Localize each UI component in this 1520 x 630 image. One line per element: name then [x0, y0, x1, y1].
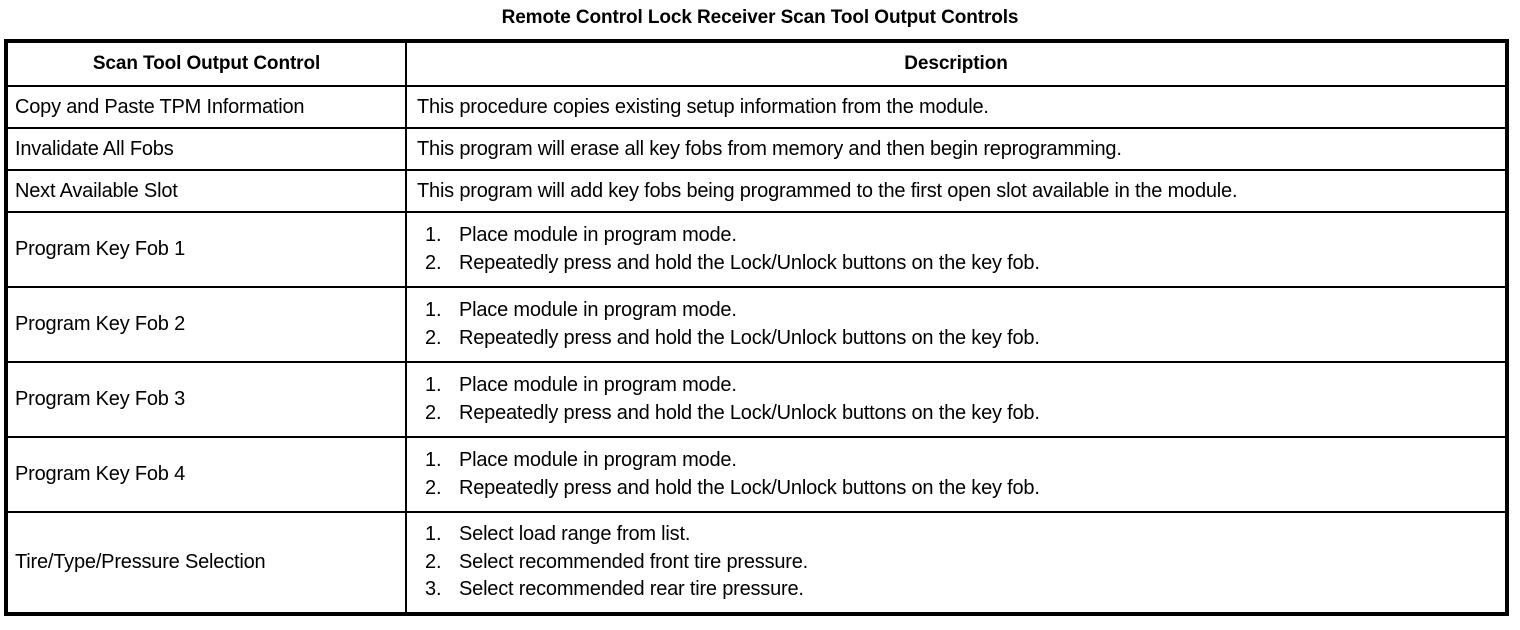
table-row: Next Available SlotThis program will add…	[6, 170, 1507, 212]
table-body: Copy and Paste TPM InformationThis proce…	[6, 86, 1507, 614]
description-step-list: Place module in program mode.Repeatedly …	[417, 297, 1499, 352]
description-step-item: Repeatedly press and hold the Lock/Unloc…	[417, 250, 1499, 278]
cell-scan-tool-output-control: Tire/Type/Pressure Selection	[6, 512, 406, 614]
description-step-item: Select load range from list.	[417, 521, 1499, 549]
scan-tool-output-controls-table: Scan Tool Output Control Description Cop…	[4, 39, 1509, 616]
description-step-list: Place module in program mode.Repeatedly …	[417, 447, 1499, 502]
table-row: Program Key Fob 2Place module in program…	[6, 287, 1507, 362]
cell-scan-tool-output-control: Invalidate All Fobs	[6, 128, 406, 170]
table-container: Scan Tool Output Control Description Cop…	[4, 27, 1514, 616]
document-page: Remote Control Lock Receiver Scan Tool O…	[0, 0, 1520, 630]
description-step-item: Place module in program mode.	[417, 222, 1499, 250]
table-row: Program Key Fob 1Place module in program…	[6, 212, 1507, 287]
table-row: Program Key Fob 4Place module in program…	[6, 437, 1507, 512]
cell-description: Place module in program mode.Repeatedly …	[406, 287, 1507, 362]
description-step-item: Place module in program mode.	[417, 372, 1499, 400]
description-step-list: Place module in program mode.Repeatedly …	[417, 222, 1499, 277]
column-header-control: Scan Tool Output Control	[6, 41, 406, 86]
table-row: Program Key Fob 3Place module in program…	[6, 362, 1507, 437]
cell-scan-tool-output-control: Next Available Slot	[6, 170, 406, 212]
cell-scan-tool-output-control: Program Key Fob 2	[6, 287, 406, 362]
cell-description: Place module in program mode.Repeatedly …	[406, 437, 1507, 512]
cell-scan-tool-output-control: Program Key Fob 3	[6, 362, 406, 437]
table-row: Tire/Type/Pressure SelectionSelect load …	[6, 512, 1507, 614]
description-step-item: Place module in program mode.	[417, 297, 1499, 325]
cell-description: This procedure copies existing setup inf…	[406, 86, 1507, 128]
column-header-description: Description	[406, 41, 1507, 86]
cell-scan-tool-output-control: Copy and Paste TPM Information	[6, 86, 406, 128]
cell-scan-tool-output-control: Program Key Fob 4	[6, 437, 406, 512]
cell-description: Select load range from list.Select recom…	[406, 512, 1507, 614]
description-step-item: Select recommended front tire pressure.	[417, 549, 1499, 577]
table-row: Copy and Paste TPM InformationThis proce…	[6, 86, 1507, 128]
description-step-list: Select load range from list.Select recom…	[417, 521, 1499, 604]
cell-description: Place module in program mode.Repeatedly …	[406, 362, 1507, 437]
cell-scan-tool-output-control: Program Key Fob 1	[6, 212, 406, 287]
description-step-list: Place module in program mode.Repeatedly …	[417, 372, 1499, 427]
description-step-item: Repeatedly press and hold the Lock/Unloc…	[417, 325, 1499, 353]
cell-description: This program will add key fobs being pro…	[406, 170, 1507, 212]
description-step-item: Repeatedly press and hold the Lock/Unloc…	[417, 475, 1499, 503]
description-step-item: Place module in program mode.	[417, 447, 1499, 475]
table-row: Invalidate All FobsThis program will era…	[6, 128, 1507, 170]
table-header: Scan Tool Output Control Description	[6, 41, 1507, 86]
cell-description: This program will erase all key fobs fro…	[406, 128, 1507, 170]
page-title: Remote Control Lock Receiver Scan Tool O…	[0, 0, 1520, 27]
table-header-row: Scan Tool Output Control Description	[6, 41, 1507, 86]
description-step-item: Select recommended rear tire pressure.	[417, 576, 1499, 604]
description-step-item: Repeatedly press and hold the Lock/Unloc…	[417, 400, 1499, 428]
cell-description: Place module in program mode.Repeatedly …	[406, 212, 1507, 287]
